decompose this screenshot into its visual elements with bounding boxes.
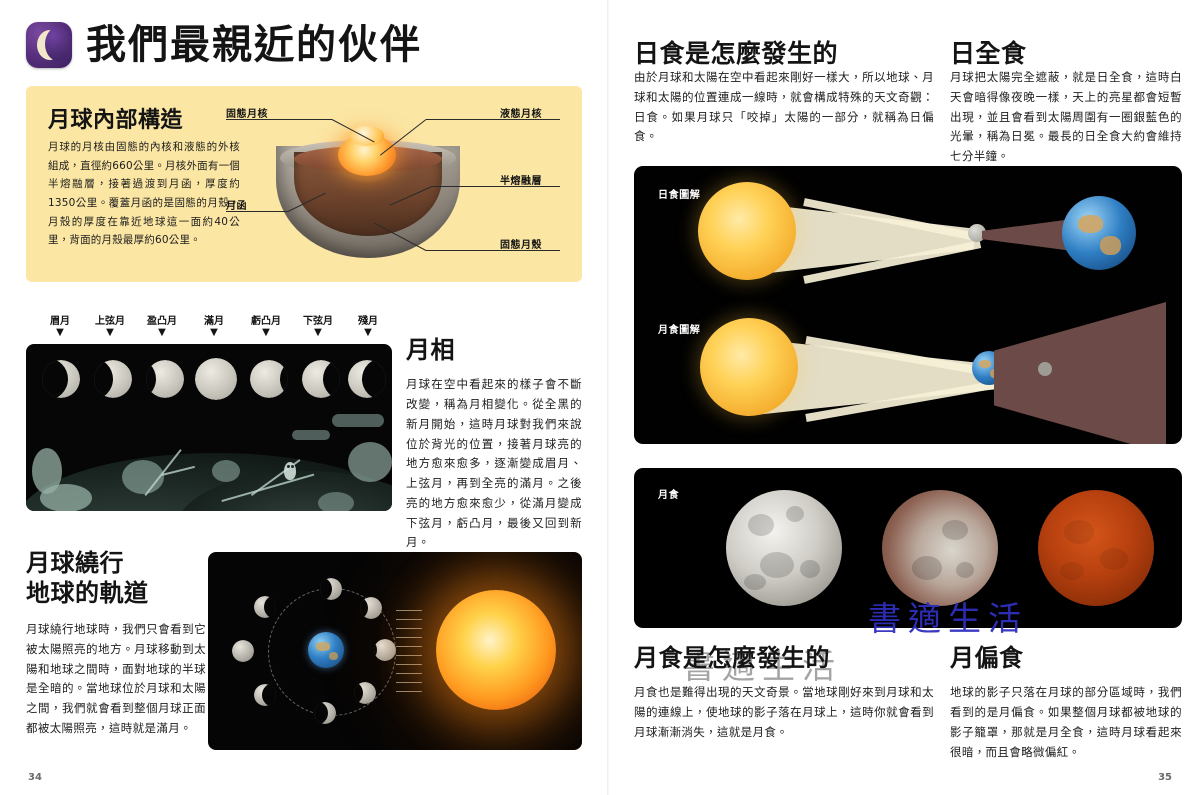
foliage-4 bbox=[348, 442, 392, 482]
moon-phases-text: 月球在空中看起來的樣子會不斷改變，稱為月相變化。從全黑的新月開始，這時月球對我們… bbox=[406, 375, 582, 553]
foliage-5 bbox=[318, 492, 354, 511]
moon-orbit-diagram-panel bbox=[208, 552, 582, 750]
phase-moon-6 bbox=[348, 360, 386, 398]
lunar-eclipse-text: 月食也是難得出現的天文奇景。當地球剛好來到月球和太陽的連線上，使地球的影子落在月… bbox=[634, 683, 934, 742]
diagram-sun-lunar bbox=[700, 318, 798, 416]
phase-arrow-4: ▼ bbox=[242, 328, 290, 337]
phase-label-1: 上弦月 ▼ bbox=[86, 312, 134, 337]
lunar-eclipse-diagram-label: 月食圖解 bbox=[658, 321, 700, 336]
orbit-moon-top-left bbox=[254, 596, 276, 618]
orbit-moon-top bbox=[320, 578, 342, 600]
solar-eclipse-text: 由於月球和太陽在空中看起來剛好一樣大，所以地球、月球和太陽的位置連成一線時，就會… bbox=[634, 68, 934, 147]
solar-eclipse-diagram-label: 日食圖解 bbox=[658, 186, 700, 201]
photo-full-moon bbox=[726, 490, 842, 606]
phase-label-0: 眉月 ▼ bbox=[36, 312, 84, 337]
moon-phase-label-row: 眉月 ▼ 上弦月 ▼ 盈凸月 ▼ 滿月 ▼ 虧凸月 ▼ 下弦月 ▼ 殘月 ▼ bbox=[26, 312, 396, 340]
orbit-moon-bottom bbox=[314, 702, 336, 724]
sunlight-rays bbox=[396, 610, 422, 692]
phase-label-3: 滿月 ▼ bbox=[190, 312, 238, 337]
phase-moon-3 bbox=[195, 358, 237, 400]
phase-label-3-text: 滿月 bbox=[204, 316, 224, 327]
label-solid-core: 固態月核 bbox=[226, 105, 268, 120]
phase-arrow-1: ▼ bbox=[86, 328, 134, 337]
orbit-moon-left bbox=[232, 640, 254, 662]
leader-solid-crust bbox=[426, 250, 560, 251]
phase-label-5: 下弦月 ▼ bbox=[294, 312, 342, 337]
solar-eclipse-title: 日食是怎麼發生的 bbox=[634, 34, 838, 70]
phase-arrow-3: ▼ bbox=[190, 328, 238, 337]
moon-interior-card: 月球內部構造 月球的月核由固態的內核和液態的外核組成，直徑約660公里。月核外面… bbox=[26, 86, 582, 282]
cloud-icon-2 bbox=[332, 414, 384, 427]
phase-arrow-2: ▼ bbox=[138, 328, 186, 337]
page-header: 我們最親近的伙伴 bbox=[26, 22, 422, 68]
foliage-2 bbox=[40, 484, 92, 511]
moon-orbit-title-line1: 月球繞行 bbox=[26, 548, 206, 578]
page-title: 我們最親近的伙伴 bbox=[86, 25, 422, 65]
moon-phases-section: 月相 月球在空中看起來的樣子會不斷改變，稱為月相變化。從全黑的新月開始，這時月球… bbox=[406, 336, 582, 553]
lunar-eclipse-photo-panel: 月食 bbox=[634, 468, 1182, 628]
orbit-moon-bottom-left bbox=[254, 684, 276, 706]
partial-lunar-eclipse-text: 地球的影子只落在月球的部分區域時，我們看到的是月偏食。如果整個月球都被地球的影子… bbox=[950, 683, 1182, 762]
moon-orbit-title-line2: 地球的軌道 bbox=[26, 578, 206, 608]
label-partial-melt: 半熔融層 bbox=[500, 172, 542, 187]
phase-label-0-text: 眉月 bbox=[50, 316, 70, 327]
phase-moon-4 bbox=[250, 360, 288, 398]
diagram-sun-solar bbox=[698, 182, 796, 280]
orbit-moon-top-right bbox=[360, 597, 382, 619]
leader-solid-core bbox=[226, 119, 332, 120]
eclipse-diagram-panel: 日食圖解 月食圖解 bbox=[634, 166, 1182, 444]
phase-label-6-text: 殘月 bbox=[358, 316, 378, 327]
lunar-eclipse-photo-label: 月食 bbox=[658, 486, 679, 501]
phase-moon-0 bbox=[42, 360, 80, 398]
leader-partial-melt bbox=[432, 186, 560, 187]
leader-mantle bbox=[226, 211, 288, 212]
moon-interior-title: 月球內部構造 bbox=[48, 102, 183, 134]
orbit-moon-right bbox=[374, 639, 396, 661]
foliage-6 bbox=[212, 460, 240, 482]
diagram-moon-lunar bbox=[1038, 362, 1052, 376]
orbit-moon-bottom-right bbox=[354, 682, 376, 704]
moon-orbit-text: 月球繞行地球時，我們只會看到它被太陽照亮的地方。月球移動到太陽和地球之間時，面對… bbox=[26, 620, 206, 739]
phase-arrow-5: ▼ bbox=[294, 328, 342, 337]
photo-total-eclipse-moon bbox=[1038, 490, 1154, 606]
phase-label-5-text: 下弦月 bbox=[303, 316, 333, 327]
label-solid-crust: 固態月殼 bbox=[500, 236, 542, 251]
sun-icon bbox=[436, 590, 556, 710]
earth-icon bbox=[308, 632, 344, 668]
crescent-moon-badge-icon bbox=[26, 22, 72, 68]
phase-label-4-text: 虧凸月 bbox=[251, 316, 281, 327]
moon-cutaway-illustration bbox=[268, 112, 468, 264]
book-spread: 我們最親近的伙伴 月球內部構造 月球的月核由固態的內核和液態的外核組成，直徑約6… bbox=[0, 0, 1200, 795]
phase-moon-5 bbox=[302, 360, 340, 398]
phase-arrow-0: ▼ bbox=[36, 328, 84, 337]
partial-lunar-eclipse-title: 月偏食 bbox=[950, 644, 1182, 673]
phase-label-1-text: 上弦月 bbox=[95, 316, 125, 327]
moon-phases-night-panel bbox=[26, 344, 392, 511]
diagram-earth-solar bbox=[1062, 196, 1136, 270]
total-solar-eclipse-text: 月球把太陽完全遮蔽，就是日全食，這時白天會暗得像夜晚一樣，天上的亮星都會短暫出現… bbox=[950, 68, 1182, 167]
cloud-icon-1 bbox=[292, 430, 330, 440]
phase-label-2-text: 盈凸月 bbox=[147, 316, 177, 327]
page-number-right: 35 bbox=[1158, 772, 1172, 783]
phase-moon-2 bbox=[146, 360, 184, 398]
phase-arrow-6: ▼ bbox=[344, 328, 392, 337]
phase-label-6: 殘月 ▼ bbox=[344, 312, 392, 337]
label-mantle: 月函 bbox=[226, 197, 247, 212]
photo-partial-eclipse-moon bbox=[882, 490, 998, 606]
total-solar-eclipse-title: 日全食 bbox=[950, 34, 1027, 70]
owl-icon bbox=[284, 462, 296, 480]
phase-label-2: 盈凸月 ▼ bbox=[138, 312, 186, 337]
lunar-eclipse-section: 月食是怎麼發生的 月食也是難得出現的天文奇景。當地球剛好來到月球和太陽的連線上，… bbox=[634, 644, 934, 743]
lunar-umbra-cone bbox=[994, 302, 1166, 444]
moon-phases-title: 月相 bbox=[406, 336, 582, 365]
partial-lunar-eclipse-section: 月偏食 地球的影子只落在月球的部分區域時，我們看到的是月偏食。如果整個月球都被地… bbox=[950, 644, 1182, 762]
page-number-left: 34 bbox=[28, 772, 42, 783]
lunar-eclipse-title: 月食是怎麼發生的 bbox=[634, 644, 934, 673]
moon-orbit-section: 月球繞行 地球的軌道 月球繞行地球時，我們只會看到它被太陽照亮的地方。月球移動到… bbox=[26, 548, 206, 739]
leader-liquid-core bbox=[426, 119, 560, 120]
phase-moon-1 bbox=[94, 360, 132, 398]
label-liquid-core: 液態月核 bbox=[500, 105, 542, 120]
moon-interior-text: 月球的月核由固態的內核和液態的外核組成，直徑約660公里。月核外面有一個半熔融層… bbox=[48, 138, 240, 250]
phase-label-4: 虧凸月 ▼ bbox=[242, 312, 290, 337]
page-gutter bbox=[607, 0, 609, 795]
